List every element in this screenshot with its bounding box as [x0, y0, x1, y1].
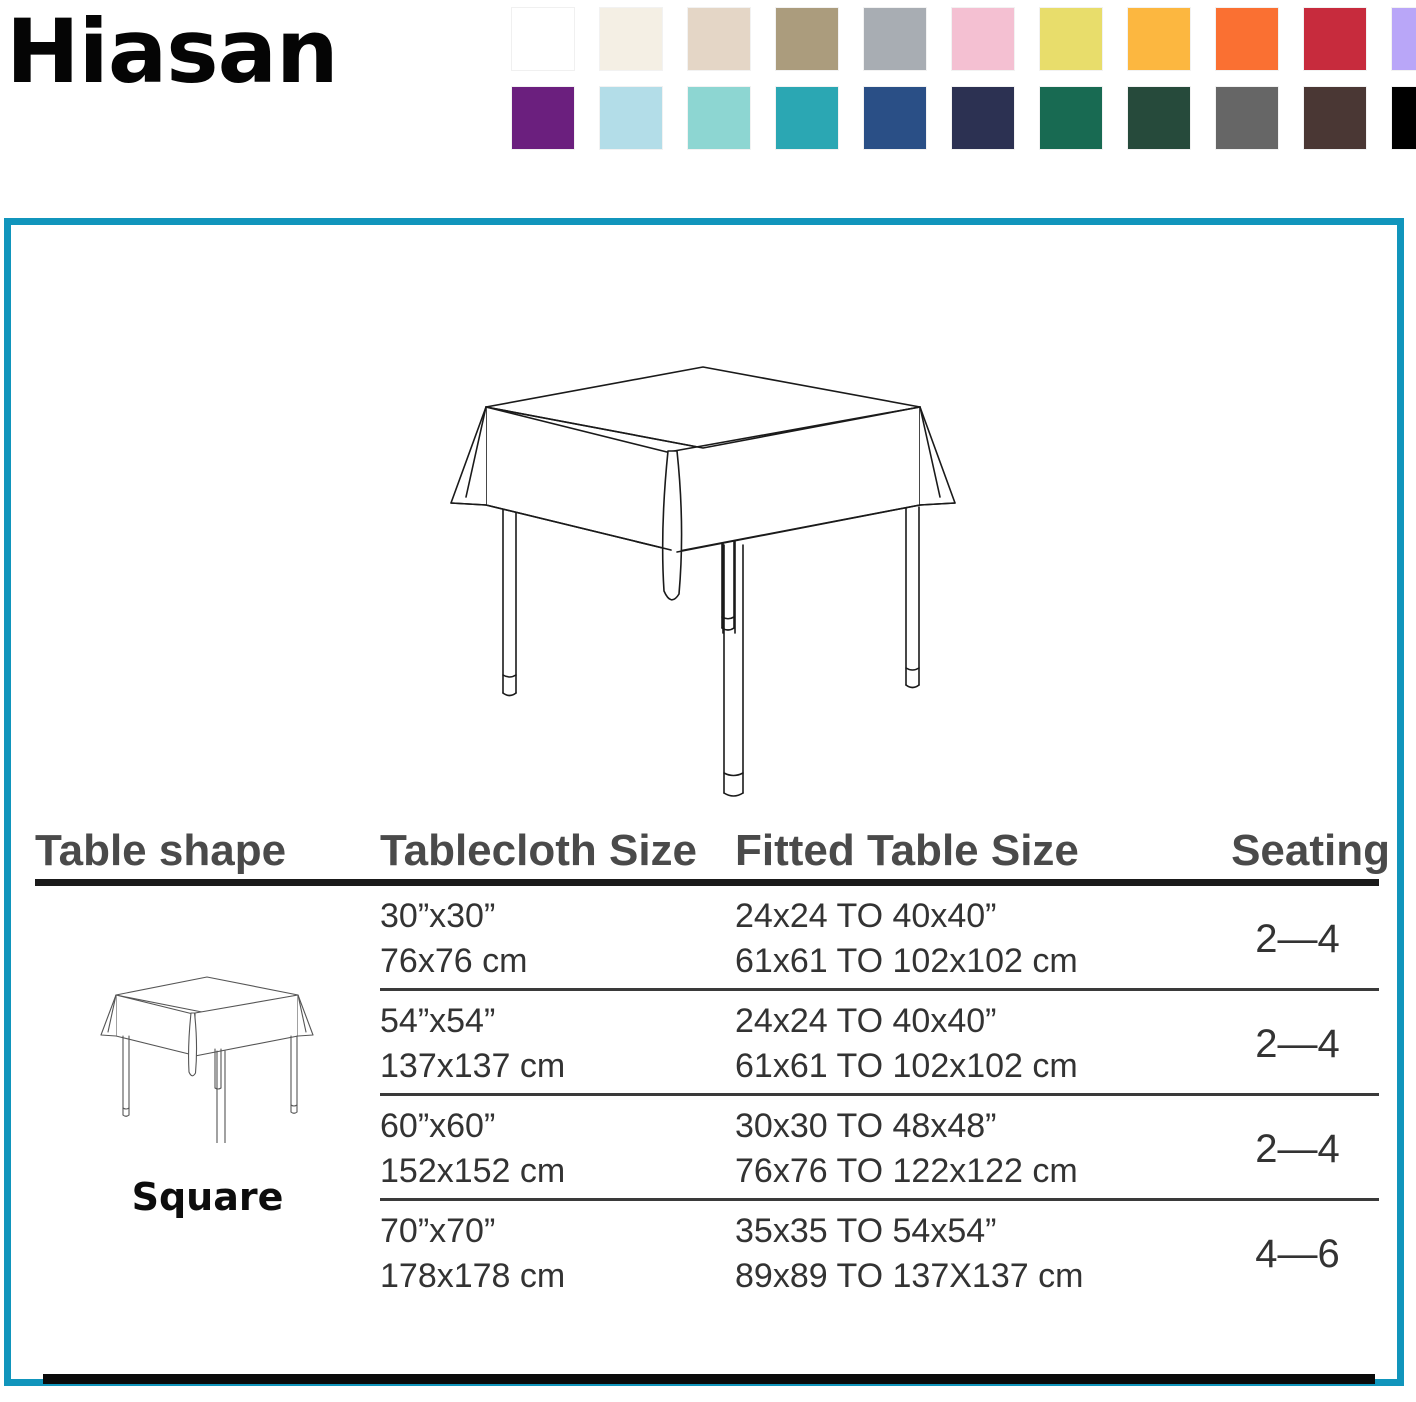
color-swatch-pink[interactable] — [952, 8, 1014, 70]
fitted-size-cm: 61x61 TO 102x102 cm — [735, 944, 1205, 978]
table-row: 30”x30” 76x76 cm 24x24 TO 40x40” 61x61 T… — [35, 886, 1379, 991]
cloth-size-inches: 60”x60” — [380, 1109, 735, 1143]
color-swatch-blue[interactable] — [864, 87, 926, 149]
cloth-size-inches: 30”x30” — [380, 899, 735, 933]
color-swatch-dark-green[interactable] — [1128, 87, 1190, 149]
color-swatch-aqua[interactable] — [688, 87, 750, 149]
cell-seating: 4—6 — [1205, 1201, 1390, 1306]
color-swatch-taupe[interactable] — [776, 8, 838, 70]
fitted-size-cm: 61x61 TO 102x102 cm — [735, 1049, 1205, 1083]
size-chart-panel: Table shape Tablecloth Size Fitted Table… — [4, 218, 1404, 1386]
table-footer-rule — [43, 1374, 1375, 1384]
row-shape-spacer — [35, 1201, 380, 1306]
cell-fitted-table-size: 35x35 TO 54x54” 89x89 TO 137X137 cm — [735, 1201, 1205, 1306]
cell-tablecloth-size: 30”x30” 76x76 cm — [380, 886, 735, 991]
color-swatch-lavender[interactable] — [1392, 8, 1416, 70]
cloth-size-cm: 76x76 cm — [380, 944, 735, 978]
color-swatch-navy[interactable] — [952, 87, 1014, 149]
color-swatch-light-blue[interactable] — [600, 87, 662, 149]
color-swatch-beige[interactable] — [688, 8, 750, 70]
header-tablecloth-size: Tablecloth Size — [380, 829, 735, 873]
table-row: 54”x54” 137x137 cm 24x24 TO 40x40” 61x61… — [35, 991, 1379, 1096]
fitted-size-cm: 76x76 TO 122x122 cm — [735, 1154, 1205, 1188]
color-swatch-white[interactable] — [512, 8, 574, 70]
color-swatch-row-1 — [512, 8, 1412, 70]
fitted-size-cm: 89x89 TO 137X137 cm — [735, 1259, 1205, 1293]
header-divider — [35, 879, 1379, 886]
color-swatch-brown[interactable] — [1304, 87, 1366, 149]
row-shape-spacer — [35, 991, 380, 1096]
fitted-size-inches: 24x24 TO 40x40” — [735, 899, 1205, 933]
color-swatch-yellow[interactable] — [1040, 8, 1102, 70]
color-swatch-orange[interactable] — [1216, 8, 1278, 70]
cloth-size-inches: 54”x54” — [380, 1004, 735, 1038]
header-table-shape: Table shape — [35, 829, 380, 873]
cloth-size-cm: 137x137 cm — [380, 1049, 735, 1083]
color-swatch-charcoal[interactable] — [1216, 87, 1278, 149]
color-swatch-green[interactable] — [1040, 87, 1102, 149]
table-header-row: Table shape Tablecloth Size Fitted Table… — [35, 805, 1379, 873]
row-shape-spacer — [35, 886, 380, 991]
color-swatch-row-2 — [512, 87, 1412, 149]
color-swatch-ivory[interactable] — [600, 8, 662, 70]
cell-fitted-table-size: 24x24 TO 40x40” 61x61 TO 102x102 cm — [735, 991, 1205, 1096]
cloth-size-inches: 70”x70” — [380, 1214, 735, 1248]
cell-fitted-table-size: 30x30 TO 48x48” 76x76 TO 122x122 cm — [735, 1096, 1205, 1201]
cloth-size-cm: 178x178 cm — [380, 1259, 735, 1293]
brand-header: Hiasan — [0, 0, 1416, 218]
color-swatch-grid — [512, 8, 1412, 166]
cell-fitted-table-size: 24x24 TO 40x40” 61x61 TO 102x102 cm — [735, 886, 1205, 991]
fitted-size-inches: 24x24 TO 40x40” — [735, 1004, 1205, 1038]
cloth-size-cm: 152x152 cm — [380, 1154, 735, 1188]
table-row: 60”x60” 152x152 cm 30x30 TO 48x48” 76x76… — [35, 1096, 1379, 1201]
size-table: Table shape Tablecloth Size Fitted Table… — [35, 805, 1379, 1367]
brand-logo: Hiasan — [6, 8, 338, 96]
cell-tablecloth-size: 54”x54” 137x137 cm — [380, 991, 735, 1096]
color-swatch-teal[interactable] — [776, 87, 838, 149]
color-swatch-grey[interactable] — [864, 8, 926, 70]
color-swatch-gold[interactable] — [1128, 8, 1190, 70]
cell-seating: 2—4 — [1205, 886, 1390, 991]
table-body: Square 30”x30” 76x76 cm 24x24 TO 40x40” … — [35, 886, 1379, 1306]
fitted-size-inches: 30x30 TO 48x48” — [735, 1109, 1205, 1143]
color-swatch-red[interactable] — [1304, 8, 1366, 70]
fitted-size-inches: 35x35 TO 54x54” — [735, 1214, 1205, 1248]
table-row: 70”x70” 178x178 cm 35x35 TO 54x54” 89x89… — [35, 1201, 1379, 1306]
cell-tablecloth-size: 60”x60” 152x152 cm — [380, 1096, 735, 1201]
cell-tablecloth-size: 70”x70” 178x178 cm — [380, 1201, 735, 1306]
square-table-illustration — [431, 345, 976, 800]
cell-seating: 2—4 — [1205, 1096, 1390, 1201]
header-fitted-table-size: Fitted Table Size — [735, 829, 1205, 873]
row-shape-spacer — [35, 1096, 380, 1201]
header-seating: Seating — [1205, 829, 1390, 873]
color-swatch-black[interactable] — [1392, 87, 1416, 149]
color-swatch-purple[interactable] — [512, 87, 574, 149]
cell-seating: 2—4 — [1205, 991, 1390, 1096]
